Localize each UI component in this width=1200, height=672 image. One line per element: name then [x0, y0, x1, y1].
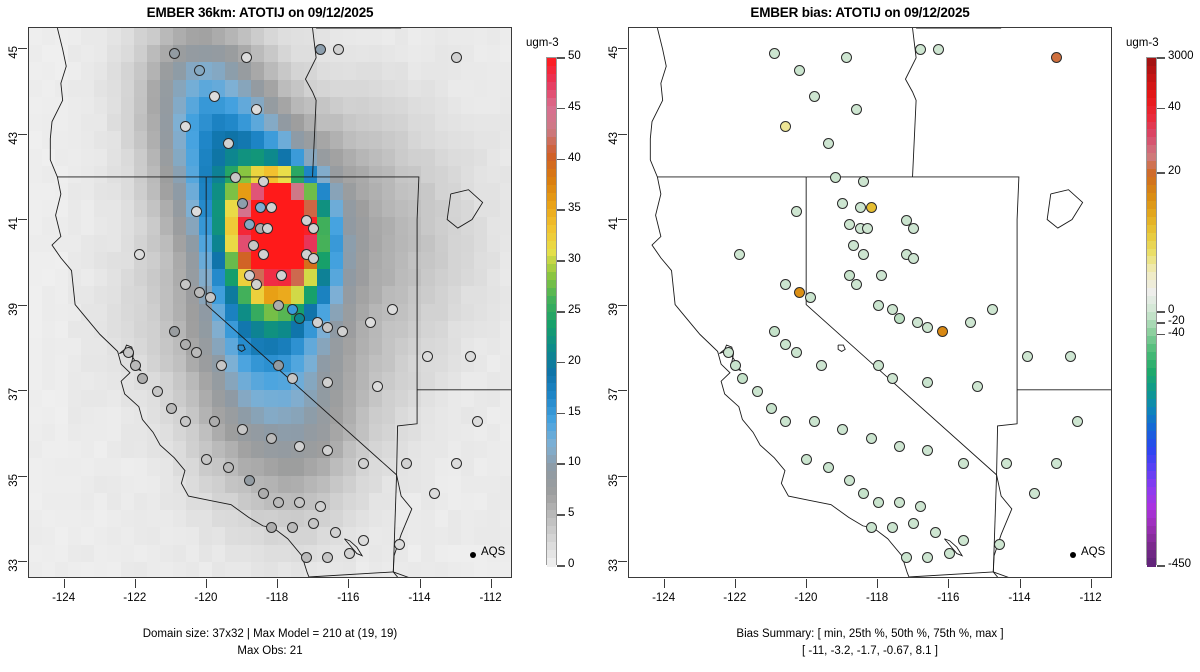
- x-tick: [735, 579, 736, 588]
- station-marker: [841, 52, 852, 63]
- station-marker: [873, 300, 884, 311]
- station-marker: [273, 360, 284, 371]
- station-marker: [287, 522, 298, 533]
- x-tick: [664, 579, 665, 588]
- aqs-legend-dot: [470, 552, 476, 558]
- x-tick-label: -114: [1000, 592, 1040, 604]
- x-tick-label: -114: [400, 592, 440, 604]
- station-marker: [266, 522, 277, 533]
- station-marker: [209, 416, 220, 427]
- x-tick-label: -120: [786, 592, 826, 604]
- aqs-legend-dot: [1070, 552, 1076, 558]
- station-marker: [766, 403, 777, 414]
- station-marker: [855, 202, 866, 213]
- figure-root: EMBER 36km: ATOTIJ on 09/12/2025 AQS 454…: [0, 0, 1200, 672]
- colorbar-gradient: [546, 57, 557, 565]
- x-tick-label: -124: [44, 592, 84, 604]
- station-marker: [251, 104, 262, 115]
- colorbar-tick-label: 45: [568, 101, 581, 113]
- colorbar-tick: [557, 108, 565, 110]
- y-tick-label: 37: [608, 388, 620, 408]
- station-marker: [312, 317, 323, 328]
- station-marker: [180, 279, 191, 290]
- station-marker: [994, 539, 1005, 550]
- x-tick-label: -124: [644, 592, 684, 604]
- station-marker: [791, 206, 802, 217]
- caption-model-line2: Max Obs: 21: [0, 645, 540, 657]
- caption-model-line1: Domain size: 37x32 | Max Model = 210 at …: [0, 628, 540, 640]
- station-marker: [734, 249, 745, 260]
- station-marker: [866, 522, 877, 533]
- caption-bias-line2: [ -11, -3.2, -1.7, -0.67, 8.1 ]: [600, 645, 1140, 657]
- panel-model: EMBER 36km: ATOTIJ on 09/12/2025 AQS 454…: [0, 0, 600, 672]
- colorbar-tick-label: 10: [568, 456, 581, 468]
- colorbar-tick: [557, 362, 565, 364]
- station-marker: [780, 121, 791, 132]
- colorbar-tick: [557, 514, 565, 516]
- station-marker: [216, 360, 227, 371]
- colorbar-tick: [1157, 172, 1165, 174]
- station-marker: [987, 304, 998, 315]
- station-marker: [322, 322, 333, 333]
- colorbar-tick-label: 5: [568, 507, 574, 519]
- station-marker: [930, 527, 941, 538]
- x-tick-label: -122: [715, 592, 755, 604]
- y-tick-label: 43: [608, 132, 620, 152]
- colorbar-gradient: [1146, 57, 1157, 565]
- station-marker: [209, 91, 220, 102]
- station-marker: [866, 202, 877, 213]
- y-tick-label: 35: [608, 474, 620, 494]
- station-marker: [205, 292, 216, 303]
- x-tick: [64, 579, 65, 588]
- station-marker: [394, 539, 405, 550]
- station-marker: [1072, 416, 1083, 427]
- colorbar-tick-label: 20: [1168, 165, 1181, 177]
- colorbar-tick: [1157, 311, 1165, 313]
- station-marker: [873, 497, 884, 508]
- station-marker: [273, 497, 284, 508]
- station-marker: [1051, 52, 1062, 63]
- x-tick-label: -112: [1071, 592, 1111, 604]
- y-tick-label: 43: [8, 132, 20, 152]
- station-marker: [866, 433, 877, 444]
- station-marker: [180, 121, 191, 132]
- x-tick-label: -118: [857, 592, 897, 604]
- station-marker: [830, 172, 841, 183]
- colorbar-tick-label: 50: [568, 50, 581, 62]
- station-marker: [248, 240, 259, 251]
- x-tick-label: -118: [257, 592, 297, 604]
- station-marker: [894, 313, 905, 324]
- station-marker: [191, 347, 202, 358]
- station-marker: [237, 198, 248, 209]
- station-marker: [337, 326, 348, 337]
- colorbar-tick: [557, 463, 565, 465]
- station-marker: [816, 360, 827, 371]
- x-tick: [348, 579, 349, 588]
- panel-bias: EMBER bias: ATOTIJ on 09/12/2025 AQS 454…: [600, 0, 1200, 672]
- x-tick-label: -120: [186, 592, 226, 604]
- station-marker: [1001, 458, 1012, 469]
- y-tick-label: 33: [8, 559, 20, 579]
- station-marker: [922, 322, 933, 333]
- station-marker: [451, 458, 462, 469]
- colorbar-tick-label: -40: [1168, 327, 1185, 339]
- station-marker: [241, 52, 252, 63]
- x-tick-label: -122: [115, 592, 155, 604]
- station-marker: [780, 279, 791, 290]
- station-marker: [780, 339, 791, 350]
- station-marker: [134, 249, 145, 260]
- station-marker: [152, 386, 163, 397]
- colorbar-tick-label: 3000: [1168, 50, 1194, 62]
- x-tick: [948, 579, 949, 588]
- colorbar-tick-label: 0: [568, 558, 574, 570]
- x-tick: [491, 579, 492, 588]
- colorbar-tick-label: 20: [568, 355, 581, 367]
- colorbar-tick: [557, 565, 565, 567]
- station-marker: [887, 373, 898, 384]
- station-marker: [780, 416, 791, 427]
- station-marker: [237, 424, 248, 435]
- y-tick-label: 37: [8, 388, 20, 408]
- station-marker: [266, 202, 277, 213]
- colorbar-tick-label: 40: [1168, 101, 1181, 113]
- station-marker: [223, 138, 234, 149]
- aqs-legend-label: AQS: [481, 546, 505, 558]
- station-marker: [344, 548, 355, 559]
- station-marker: [791, 347, 802, 358]
- station-marker: [387, 304, 398, 315]
- station-marker: [273, 300, 284, 311]
- station-marker: [166, 403, 177, 414]
- station-marker: [873, 360, 884, 371]
- panel-title-model: EMBER 36km: ATOTIJ on 09/12/2025: [0, 5, 520, 20]
- x-tick: [277, 579, 278, 588]
- x-tick: [206, 579, 207, 588]
- station-marker: [937, 326, 948, 337]
- colorbar-tick: [1157, 108, 1165, 110]
- station-marker: [180, 416, 191, 427]
- station-marker: [805, 292, 816, 303]
- station-marker: [451, 52, 462, 63]
- station-marker: [823, 138, 834, 149]
- station-marker: [266, 433, 277, 444]
- colorbar-tick: [1157, 57, 1165, 59]
- colorbar-unit-label: ugm-3: [1126, 37, 1159, 49]
- colorbar-tick: [557, 209, 565, 211]
- colorbar-tick: [557, 57, 565, 59]
- station-marker: [287, 373, 298, 384]
- station-marker: [837, 424, 848, 435]
- y-tick-label: 35: [8, 474, 20, 494]
- x-tick: [1091, 579, 1092, 588]
- station-marker: [851, 104, 862, 115]
- colorbar-tick-label: 15: [568, 406, 581, 418]
- colorbar-tick: [1157, 565, 1165, 567]
- colorbar-tick-label: -20: [1168, 315, 1185, 327]
- station-marker: [330, 527, 341, 538]
- station-marker: [809, 416, 820, 427]
- y-tick-label: 45: [608, 46, 620, 66]
- x-tick-label: -116: [928, 592, 968, 604]
- x-tick: [420, 579, 421, 588]
- station-marker: [180, 339, 191, 350]
- colorbar-tick: [557, 311, 565, 313]
- station-marker: [472, 416, 483, 427]
- station-marker: [894, 497, 905, 508]
- y-tick-label: 41: [8, 217, 20, 237]
- station-marker: [933, 44, 944, 55]
- station-marker: [887, 522, 898, 533]
- station-marker: [294, 313, 305, 324]
- station-marker: [837, 198, 848, 209]
- y-tick-label: 39: [608, 303, 620, 323]
- colorbar-tick-label: -450: [1168, 558, 1191, 570]
- colorbar-tick: [557, 159, 565, 161]
- colorbar-tick: [1157, 322, 1165, 324]
- colorbar-tick: [557, 260, 565, 262]
- colorbar-unit-label: ugm-3: [526, 37, 559, 49]
- colorbar-tick-label: 30: [568, 253, 581, 265]
- y-tick-label: 45: [8, 46, 20, 66]
- station-marker: [230, 172, 241, 183]
- x-tick: [1020, 579, 1021, 588]
- colorbar-tick-label: 0: [1168, 304, 1174, 316]
- x-tick: [806, 579, 807, 588]
- x-tick-label: -116: [328, 592, 368, 604]
- y-tick-label: 33: [608, 559, 620, 579]
- station-marker: [848, 240, 859, 251]
- station-marker: [809, 91, 820, 102]
- x-tick: [135, 579, 136, 588]
- plot-area-model[interactable]: AQS: [28, 27, 512, 578]
- colorbar-tick: [557, 413, 565, 415]
- y-tick-label: 41: [608, 217, 620, 237]
- station-marker: [912, 317, 923, 328]
- station-marker: [752, 386, 763, 397]
- colorbar-tick-label: 25: [568, 304, 581, 316]
- x-tick-label: -112: [471, 592, 511, 604]
- plot-area-bias[interactable]: AQS: [628, 27, 1112, 578]
- station-marker: [401, 458, 412, 469]
- colorbar-tick-label: 40: [568, 152, 581, 164]
- aqs-legend-label: AQS: [1081, 546, 1105, 558]
- colorbar-tick: [1157, 334, 1165, 336]
- station-marker: [191, 206, 202, 217]
- x-tick: [877, 579, 878, 588]
- station-marker: [1051, 458, 1062, 469]
- colorbar-tick-label: 35: [568, 202, 581, 214]
- caption-bias-line1: Bias Summary: [ min, 25th %, 50th %, 75t…: [600, 628, 1140, 640]
- panel-title-bias: EMBER bias: ATOTIJ on 09/12/2025: [600, 5, 1120, 20]
- station-marker: [255, 202, 266, 213]
- station-marker: [944, 548, 955, 559]
- station-marker: [294, 497, 305, 508]
- station-marker: [333, 44, 344, 55]
- y-tick-label: 39: [8, 303, 20, 323]
